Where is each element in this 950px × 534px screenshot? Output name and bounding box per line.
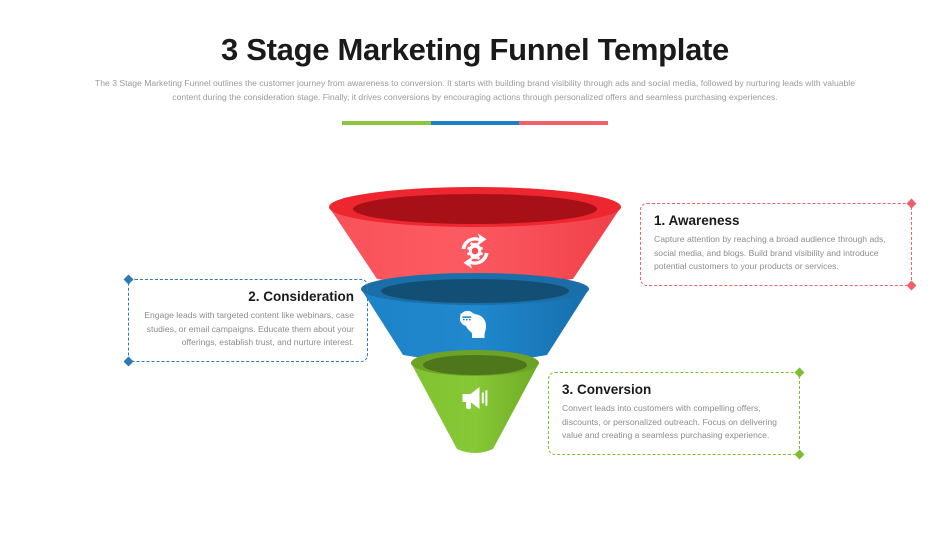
callout-consideration[interactable]: 2. Consideration Engage leads with targe…	[128, 279, 368, 362]
page-title: 3 Stage Marketing Funnel Template	[0, 32, 950, 68]
marker-diamond-top-right	[795, 368, 805, 378]
divider-segment-blue	[431, 121, 520, 125]
callout-body: Convert leads into customers with compel…	[562, 402, 786, 443]
callout-body: Engage leads with targeted content like …	[142, 309, 354, 350]
marker-diamond-top-right	[907, 199, 917, 209]
marker-diamond-bottom-right	[795, 449, 805, 459]
callout-heading: 3. Conversion	[562, 382, 786, 397]
tricolor-divider	[342, 121, 608, 125]
page-subtitle: The 3 Stage Marketing Funnel outlines th…	[85, 76, 865, 104]
marker-diamond-bottom-left	[124, 356, 134, 366]
callout-awareness[interactable]: 1. Awareness Capture attention by reachi…	[640, 203, 912, 286]
callout-conversion[interactable]: 3. Conversion Convert leads into custome…	[548, 372, 800, 455]
divider-segment-green	[342, 121, 431, 125]
divider-segment-red	[519, 121, 608, 125]
callout-heading: 2. Consideration	[142, 289, 354, 304]
callout-body: Capture attention by reaching a broad au…	[654, 233, 898, 274]
funnel-tier-awareness	[329, 187, 621, 286]
slide-canvas: 3 Stage Marketing Funnel Template The 3 …	[0, 0, 950, 534]
marker-diamond-top-left	[124, 275, 134, 285]
callout-heading: 1. Awareness	[654, 213, 898, 228]
marker-diamond-bottom-right	[907, 280, 917, 290]
